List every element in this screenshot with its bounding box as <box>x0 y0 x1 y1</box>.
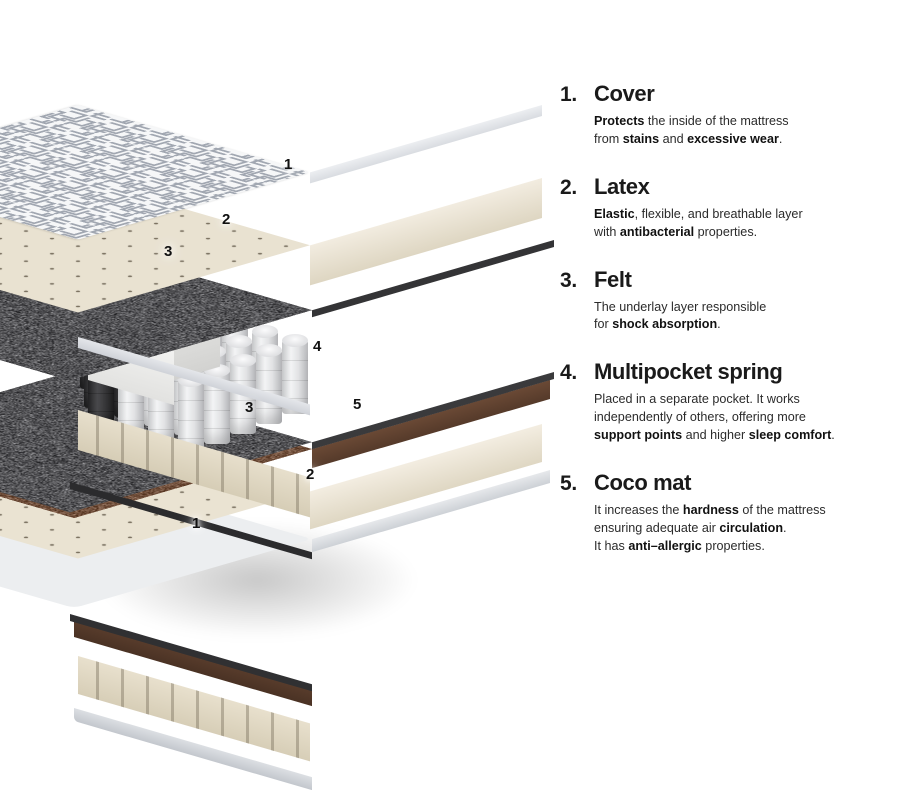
legend-description-line: support points and higher sleep comfort. <box>594 427 890 445</box>
legend-heading: 3.Felt <box>560 268 890 293</box>
mattress-illustration-pane: 1 2 3 4 3 5 2 1 <box>0 0 520 675</box>
pocket-spring-cap <box>226 335 252 348</box>
legend-description-line: It increases the hardness of the mattres… <box>594 502 890 520</box>
pocket-spring-cap <box>282 334 308 347</box>
legend-description-line: from stains and excessive wear. <box>594 131 890 149</box>
mattress-layers-infographic: 1 2 3 4 3 5 2 1 1.CoverProtects the insi… <box>0 0 900 675</box>
legend-number: 3. <box>560 269 594 293</box>
legend-number: 4. <box>560 361 594 385</box>
legend-description-line: The underlay layer responsible <box>594 299 890 317</box>
legend-number: 2. <box>560 176 594 200</box>
legend-item-multipocket-spring: 4.Multipocket springPlaced in a separate… <box>560 360 890 445</box>
legend-description: Elastic, flexible, and breathable layerw… <box>594 206 890 242</box>
legend-number: 1. <box>560 83 594 107</box>
legend-item-coco-mat: 5.Coco matIt increases the hardness of t… <box>560 471 890 556</box>
pocket-spring-cap <box>230 354 256 367</box>
legend-heading: 5.Coco mat <box>560 471 890 496</box>
legend-description-line: Placed in a separate pocket. It works <box>594 391 890 409</box>
legend-heading: 1.Cover <box>560 82 890 107</box>
legend-item-felt: 3.FeltThe underlay layer responsiblefor … <box>560 268 890 335</box>
legend-title: Multipocket spring <box>594 360 782 384</box>
legend-description: Protects the inside of the mattressfrom … <box>594 113 890 149</box>
legend-title: Coco mat <box>594 471 691 495</box>
legend-description-line: It has anti–allergic properties. <box>594 538 890 556</box>
legend-description-line: Protects the inside of the mattress <box>594 113 890 131</box>
exploded-mattress-stack: 1 2 3 4 3 5 2 1 <box>0 0 520 675</box>
legend-title: Latex <box>594 175 649 199</box>
legend-item-latex: 2.LatexElastic, flexible, and breathable… <box>560 175 890 242</box>
pocket-spring-cap <box>256 344 282 357</box>
legend-description-line: with antibacterial properties. <box>594 224 890 242</box>
legend-number: 5. <box>560 472 594 496</box>
legend-list: 1.CoverProtects the inside of the mattre… <box>560 82 890 577</box>
legend-description: The underlay layer responsiblefor shock … <box>594 299 890 335</box>
legend-title: Felt <box>594 268 632 292</box>
legend-heading: 2.Latex <box>560 175 890 200</box>
pocket-spring-barrel <box>256 350 282 424</box>
legend-item-cover: 1.CoverProtects the inside of the mattre… <box>560 82 890 149</box>
legend-description: Placed in a separate pocket. It worksind… <box>594 391 890 445</box>
legend-description: It increases the hardness of the mattres… <box>594 502 890 556</box>
pocket-spring-cap <box>252 325 278 338</box>
legend-description-line: for shock absorption. <box>594 316 890 334</box>
legend-description-line: independently of others, offering more <box>594 409 890 427</box>
legend-description-line: ensuring adequate air circulation. <box>594 520 890 538</box>
legend-heading: 4.Multipocket spring <box>560 360 890 385</box>
legend-title: Cover <box>594 82 654 106</box>
legend-description-line: Elastic, flexible, and breathable layer <box>594 206 890 224</box>
legend-pane: 1.CoverProtects the inside of the mattre… <box>520 0 900 675</box>
